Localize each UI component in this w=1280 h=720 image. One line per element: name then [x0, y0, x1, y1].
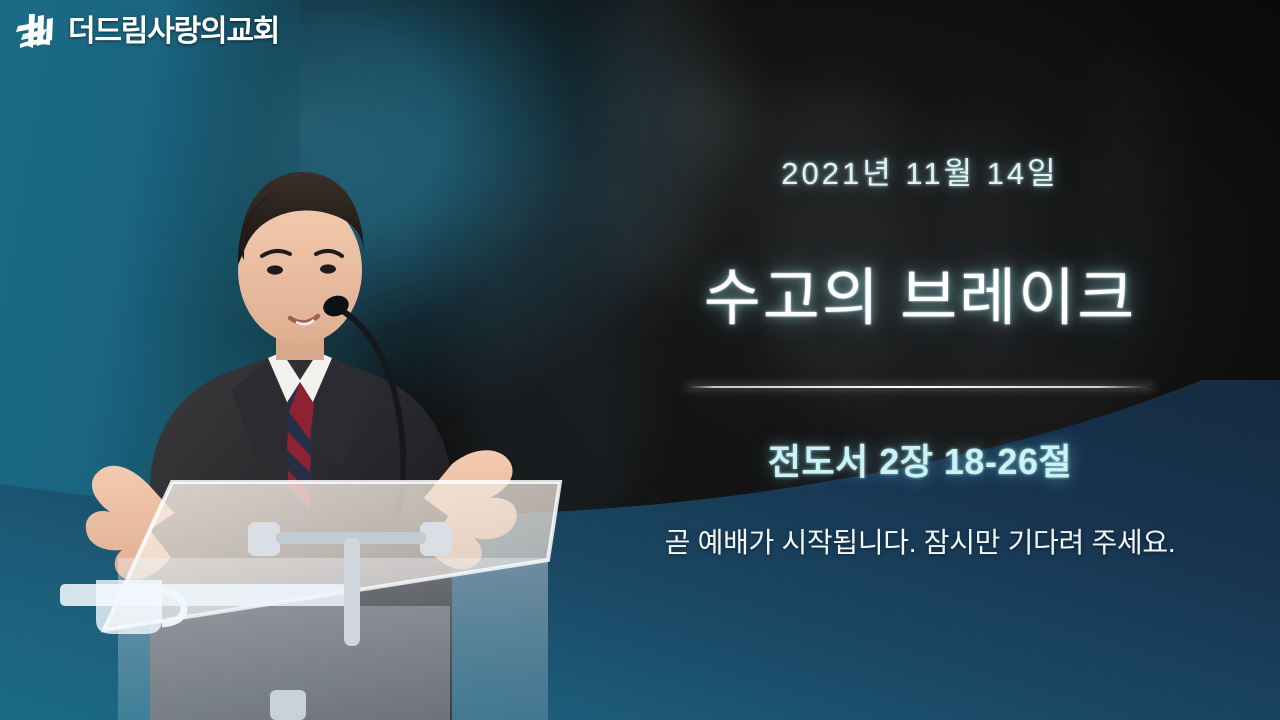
sermon-title: 수고의 브레이크 — [704, 247, 1137, 337]
preacher-photo — [0, 60, 600, 720]
church-logo: 더드림사랑의교회 — [14, 12, 279, 52]
title-divider — [686, 385, 1154, 389]
church-name: 더드림사랑의교회 — [68, 17, 279, 47]
scripture-reference: 전도서 2장 18-26절 — [768, 433, 1072, 485]
service-info-panel: 2021년 11월 14일 수고의 브레이크 전도서 2장 18-26절 곧 예… — [560, 0, 1280, 720]
service-date: 2021년 11월 14일 — [781, 148, 1058, 193]
church-cross-sail-logo-icon — [14, 12, 60, 52]
stream-title-card: 더드림사랑의교회 2021년 11월 14일 수고의 브레이크 전도서 2장 1… — [0, 0, 1280, 720]
waiting-notice: 곧 예배가 시작됩니다. 잠시만 기다려 주세요. — [665, 521, 1176, 561]
